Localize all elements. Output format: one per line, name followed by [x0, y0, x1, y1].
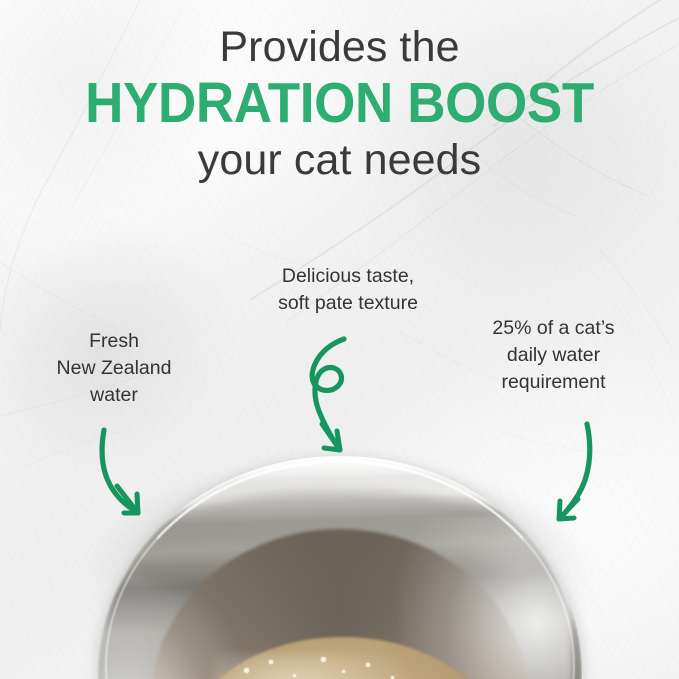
callout-center-line-2: soft pate texture: [248, 290, 448, 317]
callout-right-line-3: requirement: [466, 369, 641, 396]
callout-left-line-1: Fresh: [34, 328, 194, 355]
callout-center-line-1: Delicious taste,: [248, 263, 448, 290]
headline-block: Provides the HYDRATION BOOST your cat ne…: [0, 22, 679, 186]
headline-line-3: your cat needs: [0, 134, 679, 186]
broth-bubbles: [224, 650, 427, 679]
product-marketing-poster: Provides the HYDRATION BOOST your cat ne…: [0, 0, 679, 679]
callout-right-line-2: daily water: [466, 342, 641, 369]
callout-delicious-taste: Delicious taste, soft pate texture: [248, 263, 448, 317]
callout-right-line-1: 25% of a cat’s: [466, 315, 641, 342]
headline-line-1: Provides the: [0, 22, 679, 72]
callout-fresh-new-zealand-water: Fresh New Zealand water: [34, 328, 194, 409]
callout-left-line-3: water: [34, 382, 194, 409]
headline-line-2-hydration-boost: HYDRATION BOOST: [24, 72, 655, 134]
stainless-steel-bowl: [98, 456, 582, 679]
callout-daily-water-requirement: 25% of a cat’s daily water requirement: [466, 315, 641, 396]
callout-left-line-2: New Zealand: [34, 355, 194, 382]
